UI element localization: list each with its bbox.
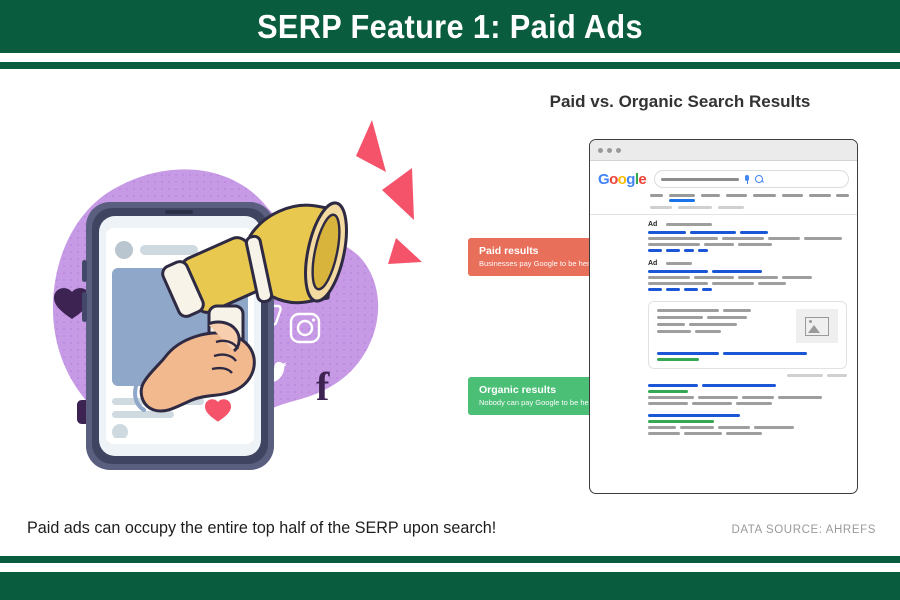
search-input[interactable] xyxy=(654,170,849,188)
google-logo-letter: g xyxy=(626,171,635,188)
ad-sitelink-bar[interactable] xyxy=(666,288,680,291)
organic-desc-bar xyxy=(742,396,774,399)
google-logo-letter: o xyxy=(618,171,627,188)
burst-lines xyxy=(356,120,422,264)
organic-title-bar[interactable] xyxy=(648,384,698,387)
footer-bar xyxy=(0,572,900,600)
organic-desc-bar xyxy=(692,402,732,405)
ad-title-bar[interactable] xyxy=(712,270,762,273)
organic-desc-bar xyxy=(648,426,676,429)
snippet-line xyxy=(657,309,719,312)
google-logo-letter: o xyxy=(609,171,618,188)
google-header: Google xyxy=(590,161,857,192)
illustration-megaphone-phone: Bē f xyxy=(20,110,440,500)
tab-active-indicator xyxy=(669,199,695,202)
snippet-line xyxy=(695,330,721,333)
organic-url-bar xyxy=(648,420,714,423)
ad-desc-bar xyxy=(648,243,700,246)
snippet-line xyxy=(723,309,751,312)
google-logo-letter: e xyxy=(638,171,646,188)
subfilter-item[interactable] xyxy=(718,206,744,209)
data-source-label: DATA SOURCE: AHREFS xyxy=(731,524,876,536)
google-logo-letter: G xyxy=(598,171,609,188)
ad-sitelink-bar[interactable] xyxy=(648,249,662,252)
search-icon[interactable] xyxy=(755,175,764,184)
tab-news[interactable] xyxy=(726,194,747,197)
organic-desc-bar xyxy=(778,396,822,399)
infographic-canvas: SERP Feature 1: Paid Ads xyxy=(0,0,900,600)
serp-results: Ad xyxy=(590,215,857,435)
ad-badge: Ad xyxy=(648,260,657,267)
ad-sitelink-bar[interactable] xyxy=(648,288,662,291)
ad-title-bar[interactable] xyxy=(648,231,686,234)
organic-desc-bar xyxy=(736,402,772,405)
snippet-line xyxy=(657,323,685,326)
tab-tools[interactable] xyxy=(809,194,831,197)
snippet-footer-bar xyxy=(827,374,847,377)
ad-desc-bar xyxy=(712,282,754,285)
ad-desc-bar xyxy=(738,276,778,279)
organic-desc-bar xyxy=(726,432,762,435)
window-dot-icon[interactable] xyxy=(616,148,621,153)
organic-desc-bar xyxy=(648,396,694,399)
ad-sitelink-bar[interactable] xyxy=(684,288,698,291)
ad-sitelink-bar[interactable] xyxy=(702,288,712,291)
organic-desc-bar xyxy=(680,426,714,429)
snippet-url-bar xyxy=(657,358,699,361)
subfilter-item[interactable] xyxy=(678,206,712,209)
ad-desc-bar xyxy=(648,282,708,285)
ad-desc-bar xyxy=(738,243,772,246)
footer-caption: Paid ads can occupy the entire top half … xyxy=(27,518,496,538)
ad-desc-bar xyxy=(804,237,842,240)
snippet-footer-bar xyxy=(787,374,823,377)
snippet-line xyxy=(657,316,703,319)
featured-snippet-card[interactable] xyxy=(648,301,847,369)
footer-rule xyxy=(0,556,900,563)
ad-result[interactable]: Ad xyxy=(648,260,847,291)
ad-desc-bar xyxy=(648,237,718,240)
snippet-title-bar[interactable] xyxy=(657,352,719,355)
browser-titlebar xyxy=(590,140,857,161)
tab-maps[interactable] xyxy=(753,194,776,197)
subfilter-item[interactable] xyxy=(650,206,672,209)
window-dot-icon[interactable] xyxy=(598,148,603,153)
ad-sitelink-bar[interactable] xyxy=(684,249,694,252)
organic-desc-bar xyxy=(718,426,750,429)
window-dot-icon[interactable] xyxy=(607,148,612,153)
tab-images[interactable] xyxy=(669,194,695,197)
organic-title-bar[interactable] xyxy=(648,414,740,417)
snippet-title-bar[interactable] xyxy=(723,352,807,355)
tab-all[interactable] xyxy=(650,194,663,197)
ad-title-bar[interactable] xyxy=(740,231,768,234)
organic-result[interactable] xyxy=(648,414,847,435)
ad-result[interactable]: Ad xyxy=(648,221,847,252)
ad-sitelink-bar[interactable] xyxy=(698,249,708,252)
ad-title-bar[interactable] xyxy=(648,270,708,273)
ad-desc-bar xyxy=(782,276,812,279)
snippet-line xyxy=(689,323,737,326)
ad-title-bar[interactable] xyxy=(690,231,736,234)
snippet-text-lines xyxy=(657,309,789,343)
image-placeholder-icon xyxy=(805,317,829,336)
browser-window-mock: Google xyxy=(589,139,858,494)
ad-sitelink-bar[interactable] xyxy=(666,249,680,252)
organic-title-bar[interactable] xyxy=(702,384,776,387)
organic-desc-bar xyxy=(684,432,722,435)
organic-url-bar xyxy=(648,390,688,393)
ad-url-bar xyxy=(666,223,712,226)
svg-text:f: f xyxy=(316,364,330,409)
ad-desc-bar xyxy=(704,243,734,246)
header-rule xyxy=(0,62,900,69)
snippet-thumbnail xyxy=(796,309,838,343)
organic-desc-bar xyxy=(698,396,738,399)
google-logo: Google xyxy=(598,172,646,187)
tab-settings[interactable] xyxy=(836,194,849,197)
tab-active-wrap[interactable] xyxy=(669,194,695,197)
facebook-icon: f xyxy=(316,364,330,409)
organic-desc-bar xyxy=(648,402,688,405)
ad-desc-bar xyxy=(722,237,764,240)
tab-videos[interactable] xyxy=(701,194,720,197)
tab-shopping[interactable] xyxy=(782,194,803,197)
organic-result[interactable] xyxy=(648,384,847,405)
organic-desc-bar xyxy=(648,432,680,435)
ad-desc-bar xyxy=(758,282,786,285)
snippet-line xyxy=(657,330,691,333)
mic-icon[interactable] xyxy=(744,175,750,184)
search-subfilters xyxy=(590,197,857,209)
ad-url-bar xyxy=(666,262,692,265)
search-query-bar xyxy=(661,178,739,181)
ad-badge: Ad xyxy=(648,221,657,228)
ad-desc-bar xyxy=(694,276,734,279)
ad-desc-bar xyxy=(768,237,800,240)
ad-desc-bar xyxy=(648,276,690,279)
snippet-line xyxy=(707,316,747,319)
organic-desc-bar xyxy=(754,426,794,429)
page-title: SERP Feature 1: Paid Ads xyxy=(32,3,869,51)
panel-heading: Paid vs. Organic Search Results xyxy=(470,92,890,112)
